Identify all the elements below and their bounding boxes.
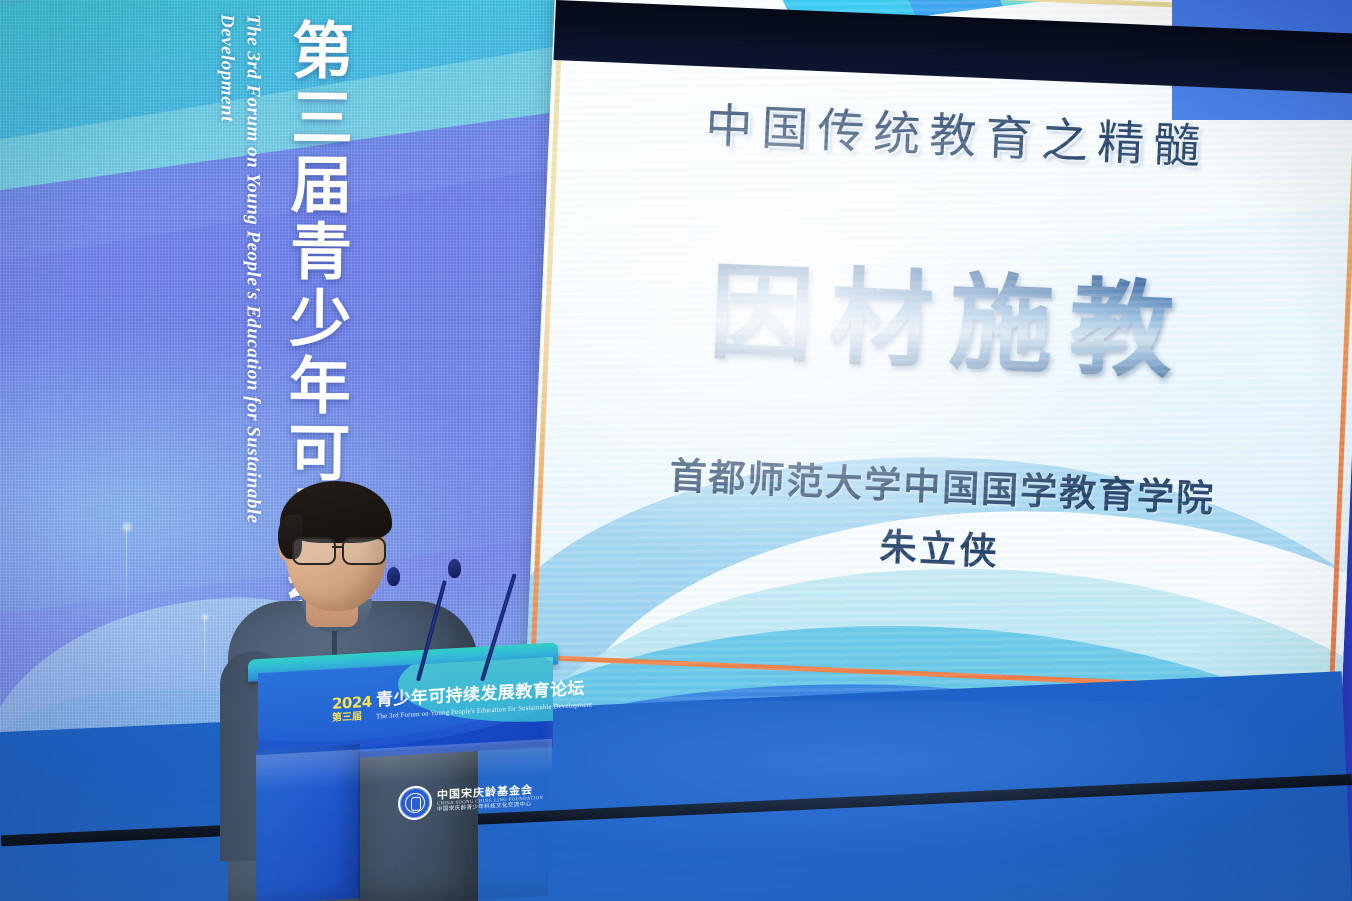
podium-edition-label: 第三届 [332, 712, 362, 724]
eyeglass-lens-left [292, 537, 336, 565]
microphone-right-head [448, 559, 461, 578]
slide-headline-text: 因材施教 [539, 220, 1352, 406]
speaker-eyeglasses [292, 537, 390, 561]
foundation-logo-text: 中国宋庆龄基金会 CHINA SOONG CHING LING FOUNDATI… [437, 784, 543, 813]
podium-foundation-logo: 中国宋庆龄基金会 CHINA SOONG CHING LING FOUNDATI… [398, 775, 538, 825]
microphone-left-head [387, 567, 400, 586]
podium-body-left-face [256, 744, 360, 901]
microphone-right [448, 563, 508, 681]
foundation-seal-icon [398, 785, 432, 821]
microphone-left-stem [416, 580, 447, 681]
eyeglass-bridge [332, 546, 342, 548]
microphone-left [386, 569, 446, 679]
podium-lectern: 2024 第三届 青少年可持续发展教育论坛 The 3rd Forum on Y… [248, 651, 558, 901]
scene-photograph: 第三届青少年可持续发展教育论坛 The 3rd Forum on Young P… [0, 0, 1352, 901]
backdrop-line-2 [204, 618, 205, 698]
backdrop-dot-1 [120, 520, 134, 534]
backdrop-dot-2 [200, 612, 210, 622]
eyeglass-lens-right [342, 537, 386, 565]
podium-year-label: 2024 [332, 695, 372, 712]
backdrop-line-1 [126, 528, 127, 638]
